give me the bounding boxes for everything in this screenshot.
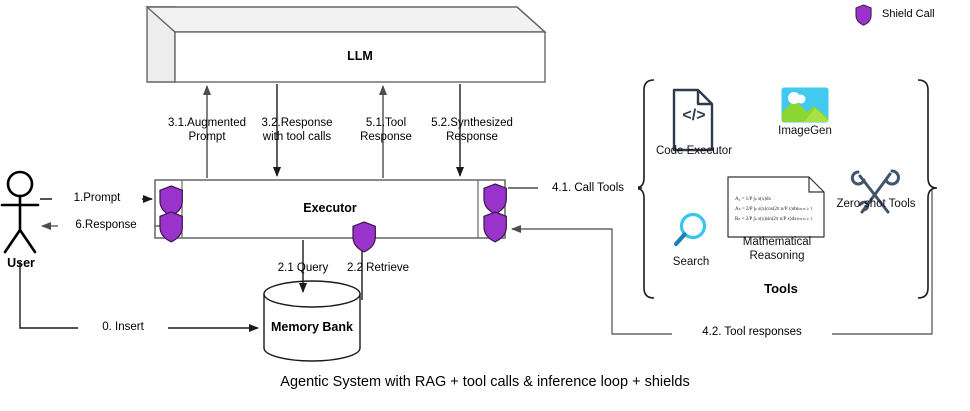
magnifying-glass-icon — [676, 215, 705, 245]
tools-right-brace — [918, 80, 937, 298]
edge-label-tool-responses: 4.2. Tool responses — [672, 326, 832, 340]
legend-shield-call-label: Shield Call — [882, 8, 935, 20]
edge-label-prompt: 1.Prompt — [52, 192, 142, 206]
llm-node-shape — [147, 7, 545, 82]
tool-label-search: Search — [656, 256, 726, 270]
diagram-caption: Agentic System with RAG + tool calls & i… — [0, 374, 970, 390]
user-actor-shape — [2, 172, 38, 252]
llm-node-label: LLM — [175, 49, 545, 63]
edge-insert — [20, 262, 258, 328]
edge-label-response: 6.Response — [58, 219, 154, 233]
svg-text:Bₙ = 2/P ∫ₚ s(x)sin(2π n/P x)d: Bₙ = 2/P ∫ₚ s(x)sin(2π n/P x)dx — [735, 216, 797, 222]
formula-document-icon: A₀ = 1/P ∫ₚ s(x)dx Aₙ = 2/P ∫ₚ s(x)cos(2… — [728, 177, 824, 237]
executor-node-label: Executor — [182, 201, 478, 215]
tool-label-zero-shot-tools: Zero-shot Tools — [834, 198, 918, 212]
image-picture-icon — [782, 88, 828, 122]
edge-label-retrieve: 2.2 Retrieve — [333, 262, 423, 276]
svg-text:for n ≥ 1: for n ≥ 1 — [797, 206, 812, 211]
memory-bank-node-label: Memory Bank — [264, 320, 360, 334]
edge-label-insert: 0. Insert — [78, 321, 168, 335]
edge-label-synthesized-response: 5.2.Synthesized Response — [412, 117, 532, 144]
svg-text:Aₙ = 2/P ∫ₚ s(x)cos(2π n/P x)d: Aₙ = 2/P ∫ₚ s(x)cos(2π n/P x)dx — [735, 206, 798, 212]
shield-icon-executor-bottom — [353, 222, 375, 252]
edge-label-query: 2.1 Query — [265, 262, 341, 276]
code-glyph: </> — [674, 107, 714, 125]
tools-group-label: Tools — [736, 281, 826, 296]
edge-label-call-tools: 4.1. Call Tools — [538, 182, 638, 196]
diagram-canvas: A₀ = 1/P ∫ₚ s(x)dx Aₙ = 2/P ∫ₚ s(x)cos(2… — [0, 0, 970, 411]
shield-icon-legend — [856, 5, 871, 25]
svg-text:for n ≥ 1: for n ≥ 1 — [797, 216, 812, 221]
tool-label-image-gen: ImageGen — [765, 125, 845, 139]
svg-text:A₀ = 1/P ∫ₚ s(x)dx: A₀ = 1/P ∫ₚ s(x)dx — [735, 196, 771, 202]
user-actor-label: User — [0, 256, 47, 270]
tool-label-code-executor: Code Executor — [644, 145, 744, 159]
tool-label-math-reasoning: Mathematical Reasoning — [718, 236, 836, 263]
